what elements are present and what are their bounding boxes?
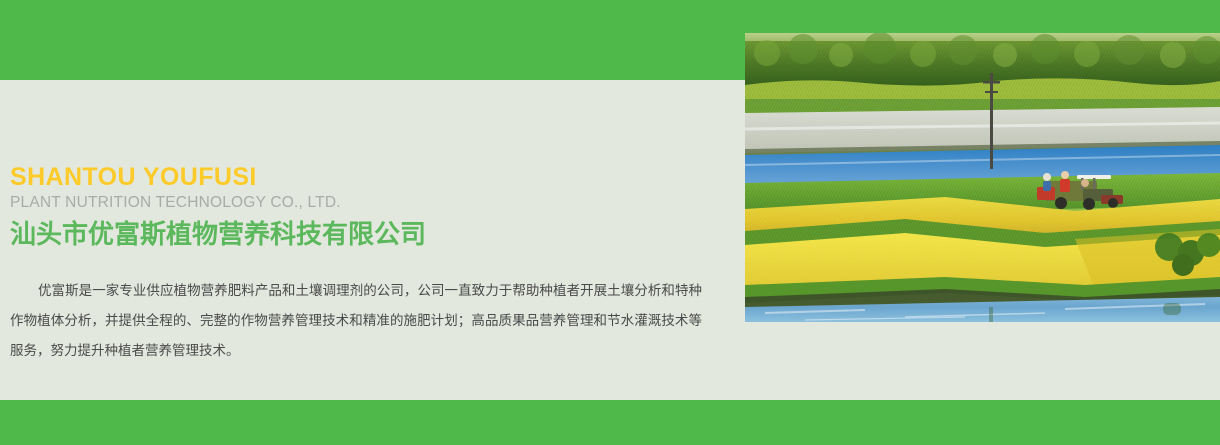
farmland-photo — [745, 33, 1220, 322]
page-root: SHANTOU YOUFUSI PLANT NUTRITION TECHNOLO… — [0, 0, 1220, 445]
company-introduction-paragraph: 优富斯是一家专业供应植物营养肥料产品和土壤调理剂的公司，公司一直致力于帮助种植者… — [10, 276, 702, 366]
brand-block: SHANTOU YOUFUSI PLANT NUTRITION TECHNOLO… — [10, 163, 710, 251]
company-name-chinese: 汕头市优富斯植物营养科技有限公司 — [10, 218, 710, 251]
farmland-photo-illustration — [745, 33, 1220, 322]
company-name-english: SHANTOU YOUFUSI — [10, 163, 710, 192]
bottom-green-band — [0, 400, 1220, 445]
company-subtitle-english: PLANT NUTRITION TECHNOLOGY CO., LTD. — [10, 194, 710, 213]
